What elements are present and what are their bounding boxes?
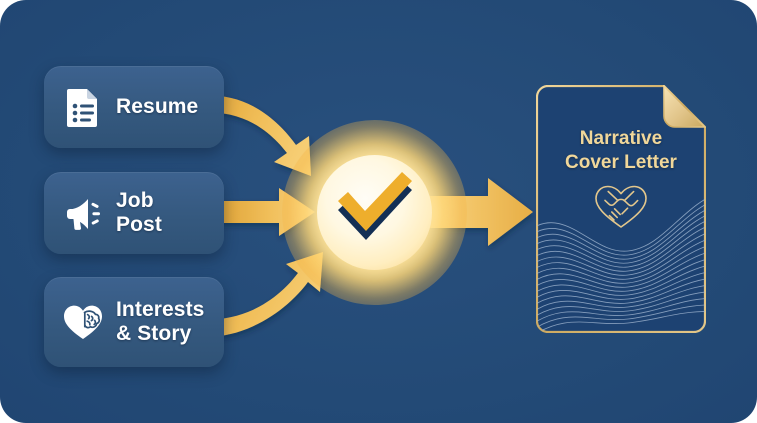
infographic-canvas: Resume Job Post — [0, 0, 757, 423]
input-card-resume[interactable]: Resume — [44, 66, 224, 148]
folded-page-corner — [664, 86, 705, 127]
megaphone-icon — [63, 191, 103, 235]
double-check-logo — [330, 168, 420, 258]
input-card-interests-story[interactable]: Interests & Story — [44, 277, 224, 367]
input-card-label: Resume — [116, 95, 198, 119]
document-title: Narrative Cover Letter — [536, 127, 706, 175]
heart-brain-icon — [63, 300, 103, 344]
output-document[interactable]: Narrative Cover Letter — [536, 85, 706, 333]
document-list-icon — [63, 85, 103, 129]
heart-handshake-icon — [592, 182, 650, 230]
input-card-job-post[interactable]: Job Post — [44, 172, 224, 254]
input-card-label: Job Post — [116, 189, 204, 236]
input-card-label: Interests & Story — [116, 298, 204, 345]
